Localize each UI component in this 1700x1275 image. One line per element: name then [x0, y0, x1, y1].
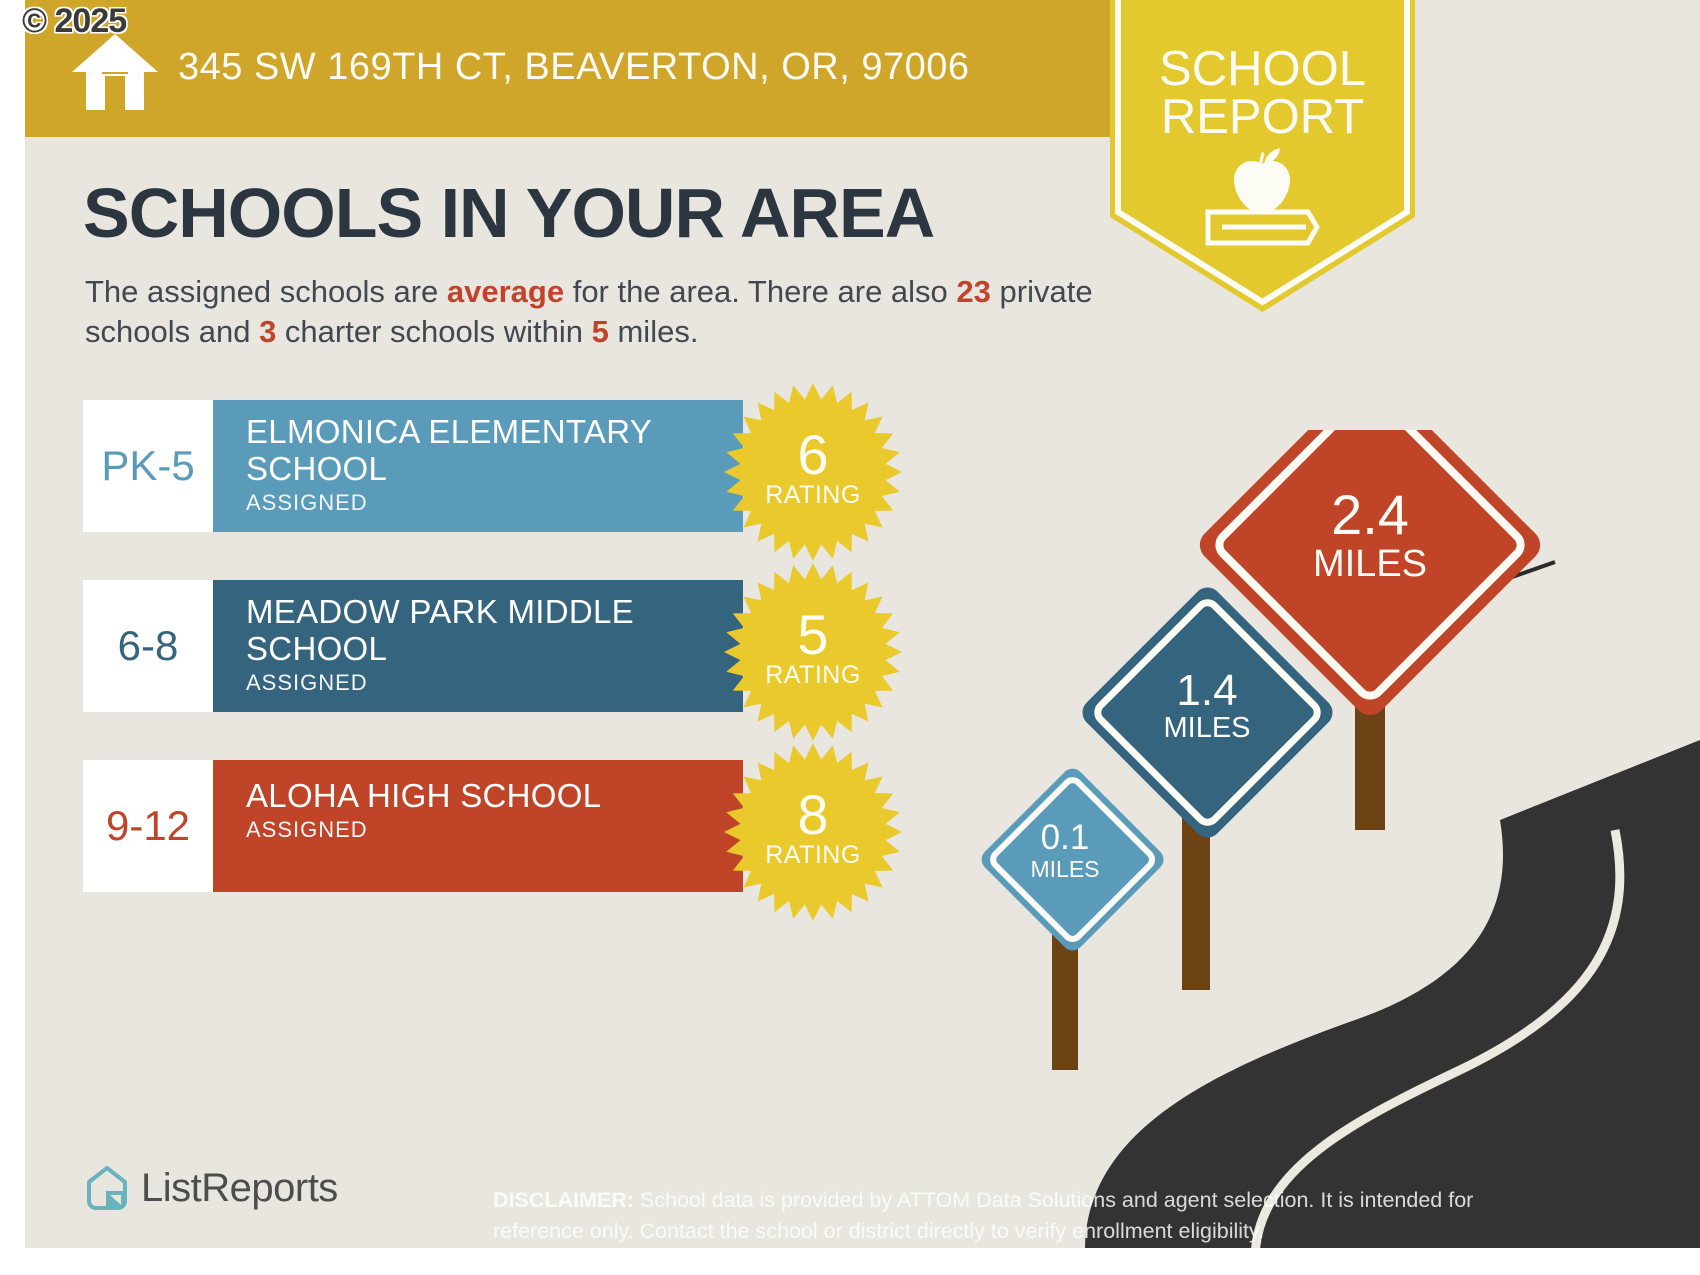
grade-range-badge: PK-5 — [83, 400, 213, 532]
school-row[interactable]: 9-12 ALOHA HIGH SCHOOL ASSIGNED 8 RATING — [83, 760, 903, 892]
distance-scene: 2.4 MILES 1.4 MILES 0.1 MILES — [955, 430, 1700, 1248]
rating-starburst: 6 RATING — [723, 382, 903, 562]
listreports-logo[interactable]: ListReports — [85, 1165, 338, 1211]
school-status: ASSIGNED — [246, 490, 743, 516]
distance-value: 0.1 — [1041, 818, 1090, 857]
summary-part-2: for the area. There are also — [564, 274, 956, 309]
logo-text: ListReports — [141, 1166, 338, 1211]
summary-part-1: The assigned schools are — [85, 274, 447, 309]
school-name: ALOHA HIGH SCHOOL — [246, 778, 743, 815]
grade-range-badge: 6-8 — [83, 580, 213, 712]
rating-word: average — [447, 274, 564, 309]
disclaimer-text: School data is provided by ATTOM Data So… — [493, 1188, 1473, 1243]
school-row[interactable]: 6-8 MEADOW PARK MIDDLE SCHOOL ASSIGNED 5… — [83, 580, 903, 712]
rating-value: 5 — [797, 608, 828, 661]
rating-starburst: 5 RATING — [723, 562, 903, 742]
school-status: ASSIGNED — [246, 670, 743, 696]
search-radius-miles: 5 — [592, 314, 609, 349]
school-report-badge: SCHOOL REPORT — [1110, 0, 1415, 312]
grade-range-badge: 9-12 — [83, 760, 213, 892]
distance-unit: MILES — [1163, 712, 1250, 744]
school-report-infographic: 345 SW 169TH CT, BEAVERTON, OR, 97006 SC… — [0, 0, 1700, 1275]
distance-unit: MILES — [1030, 856, 1099, 882]
disclaimer: DISCLAIMER: School data is provided by A… — [493, 1185, 1513, 1247]
summary-part-5: miles. — [609, 314, 699, 349]
school-list: PK-5 ELMONICA ELEMENTARY SCHOOL ASSIGNED… — [83, 400, 903, 940]
school-name: ELMONICA ELEMENTARY SCHOOL — [246, 414, 743, 488]
home-icon — [70, 32, 160, 112]
school-row[interactable]: PK-5 ELMONICA ELEMENTARY SCHOOL ASSIGNED… — [83, 400, 903, 532]
distance-value: 2.4 — [1331, 483, 1409, 546]
rating-label: RATING — [765, 481, 861, 510]
distance-unit: MILES — [1313, 543, 1427, 585]
page-title: SCHOOLS IN YOUR AREA — [83, 178, 934, 248]
grade-range-label: PK-5 — [101, 442, 194, 490]
school-bar: ELMONICA ELEMENTARY SCHOOL ASSIGNED — [213, 400, 743, 532]
summary-part-4: charter schools within — [276, 314, 591, 349]
summary-text: The assigned schools are average for the… — [85, 272, 1115, 353]
badge-line1: SCHOOL — [1159, 42, 1366, 96]
school-status: ASSIGNED — [246, 817, 743, 843]
distance-sign-1: 0.1 MILES — [977, 764, 1168, 955]
private-school-count: 23 — [956, 274, 990, 309]
listreports-house-icon — [85, 1165, 129, 1211]
rating-label: RATING — [765, 841, 861, 870]
grade-range-label: 9-12 — [106, 802, 190, 850]
header-bar: 345 SW 169TH CT, BEAVERTON, OR, 97006 — [25, 0, 1170, 137]
charter-school-count: 3 — [259, 314, 276, 349]
rating-label: RATING — [765, 661, 861, 690]
badge-line2: REPORT — [1161, 90, 1364, 144]
rating-value: 8 — [797, 788, 828, 841]
school-bar: ALOHA HIGH SCHOOL ASSIGNED — [213, 760, 743, 892]
rating-starburst: 8 RATING — [723, 742, 903, 922]
report-canvas: 345 SW 169TH CT, BEAVERTON, OR, 97006 SC… — [25, 0, 1700, 1248]
school-bar: MEADOW PARK MIDDLE SCHOOL ASSIGNED — [213, 580, 743, 712]
copyright-watermark: © 2025 — [22, 2, 126, 41]
distance-value: 1.4 — [1176, 666, 1237, 715]
disclaimer-label: DISCLAIMER: — [493, 1188, 634, 1212]
school-name: MEADOW PARK MIDDLE SCHOOL — [246, 594, 743, 668]
rating-value: 6 — [797, 428, 828, 481]
grade-range-label: 6-8 — [118, 622, 179, 670]
property-address: 345 SW 169TH CT, BEAVERTON, OR, 97006 — [178, 46, 970, 89]
